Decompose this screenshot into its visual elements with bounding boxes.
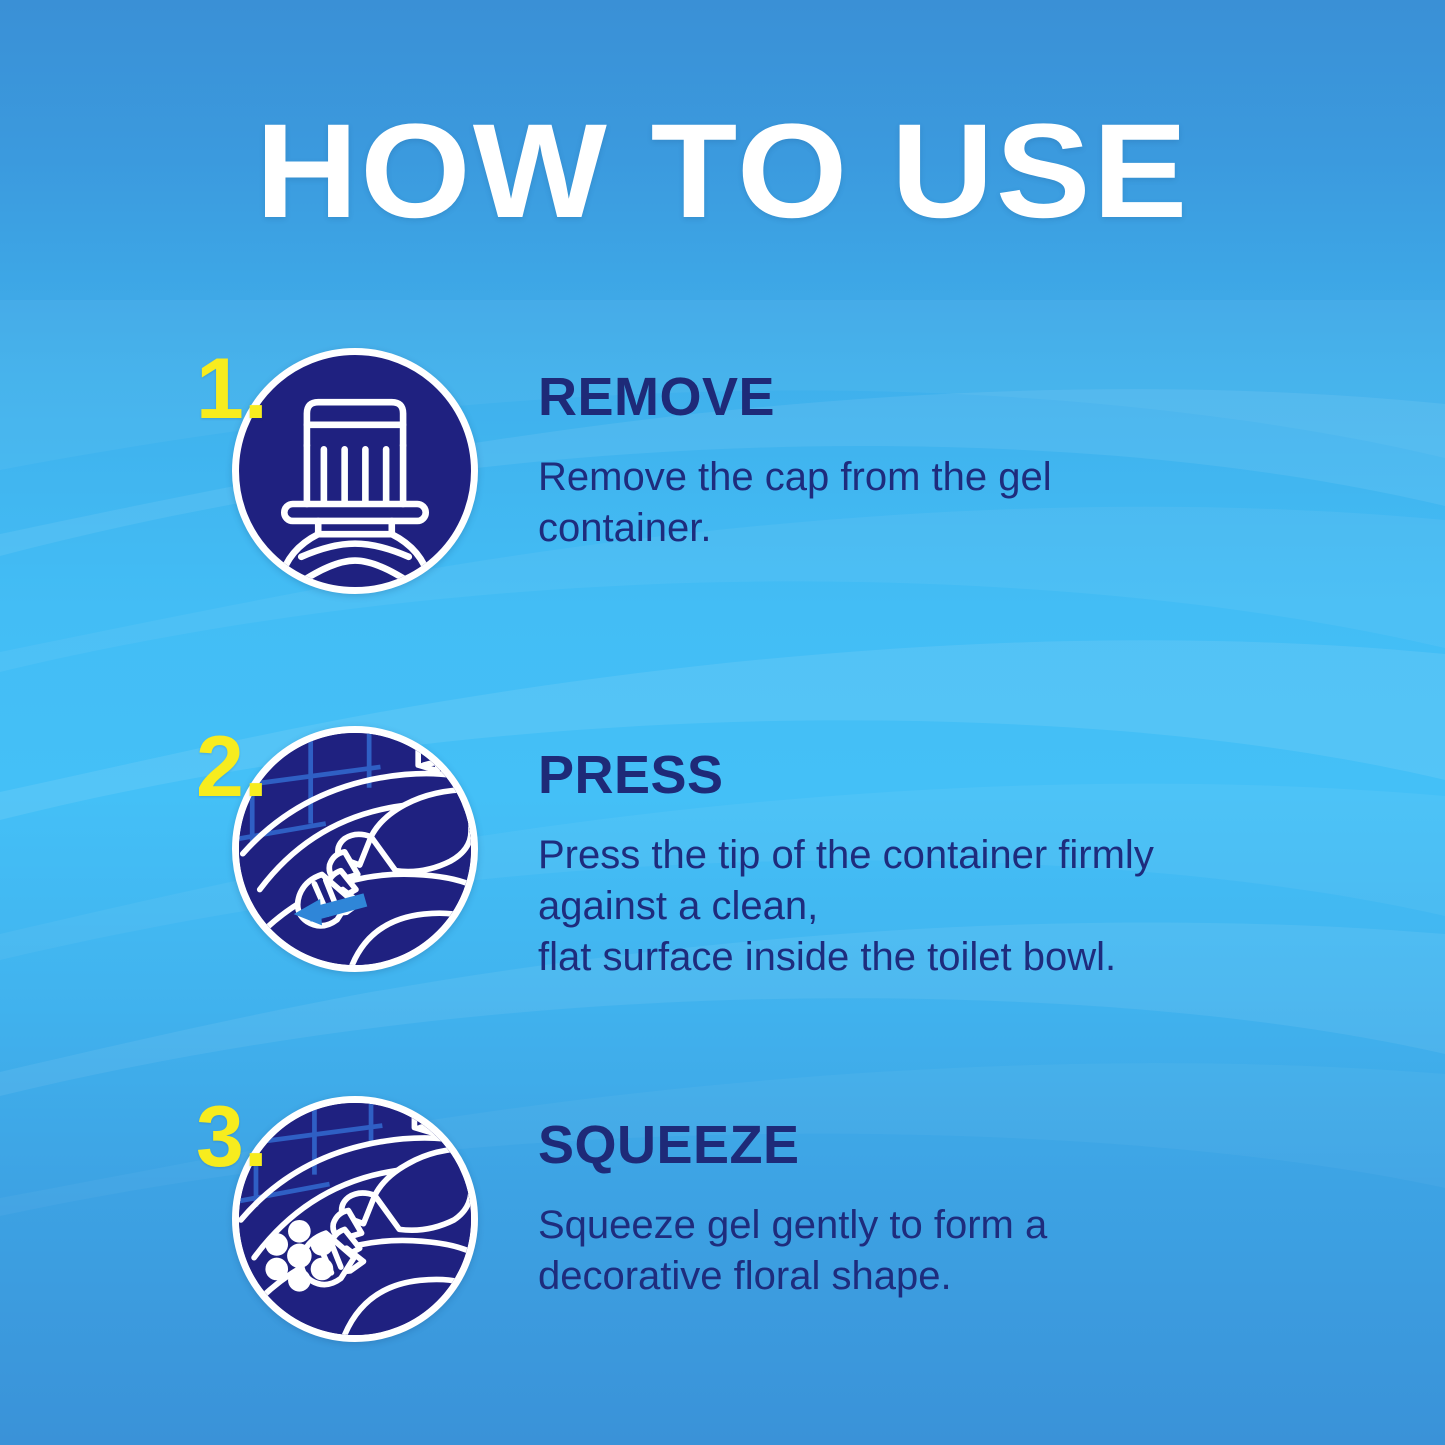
how-to-use-poster: HOW TO USE 1.	[0, 0, 1445, 1445]
step-2-number: 2.	[196, 724, 268, 810]
step-item-2: 2.	[180, 718, 1380, 968]
step-3-badge-wrapper: 3.	[180, 1088, 490, 1338]
step-2-body-line-2: against a clean,	[538, 881, 1154, 932]
step-1-body-line-2: container.	[538, 503, 1052, 554]
step-2-badge-wrapper: 2.	[180, 718, 490, 968]
step-2-text: PRESS Press the tip of the container fir…	[490, 718, 1154, 984]
step-1-text: REMOVE Remove the cap from the gel conta…	[490, 340, 1052, 554]
step-1-body-line-1: Remove the cap from the gel	[538, 452, 1052, 503]
step-2-body-line-3: flat surface inside the toilet bowl.	[538, 932, 1154, 983]
step-3-body-line-2: decorative floral shape.	[538, 1251, 1047, 1302]
step-3-text: SQUEEZE Squeeze gel gently to form a dec…	[490, 1088, 1047, 1302]
hand-pressing-dispenser-icon	[239, 733, 471, 965]
step-3-number: 3.	[196, 1094, 268, 1180]
step-item-1: 1.	[180, 340, 1380, 590]
step-2-body-line-1: Press the tip of the container firmly	[538, 830, 1154, 881]
page-title: HOW TO USE	[0, 104, 1445, 241]
step-2-icon-badge	[232, 726, 478, 972]
gel-flower-dispense-icon	[239, 1103, 471, 1335]
step-3-body: Squeeze gel gently to form a decorative …	[538, 1200, 1047, 1302]
step-item-3: 3.	[180, 1088, 1380, 1338]
step-1-heading: REMOVE	[538, 370, 1052, 424]
step-3-heading: SQUEEZE	[538, 1118, 1047, 1172]
step-2-heading: PRESS	[538, 748, 1154, 802]
step-3-icon-badge	[232, 1096, 478, 1342]
cap-removal-icon	[239, 355, 471, 587]
step-1-icon-badge	[232, 348, 478, 594]
step-1-body: Remove the cap from the gel container.	[538, 452, 1052, 554]
step-1-number: 1.	[196, 346, 268, 432]
step-1-badge-wrapper: 1.	[180, 340, 490, 590]
step-2-body: Press the tip of the container firmly ag…	[538, 830, 1154, 984]
step-3-body-line-1: Squeeze gel gently to form a	[538, 1200, 1047, 1251]
